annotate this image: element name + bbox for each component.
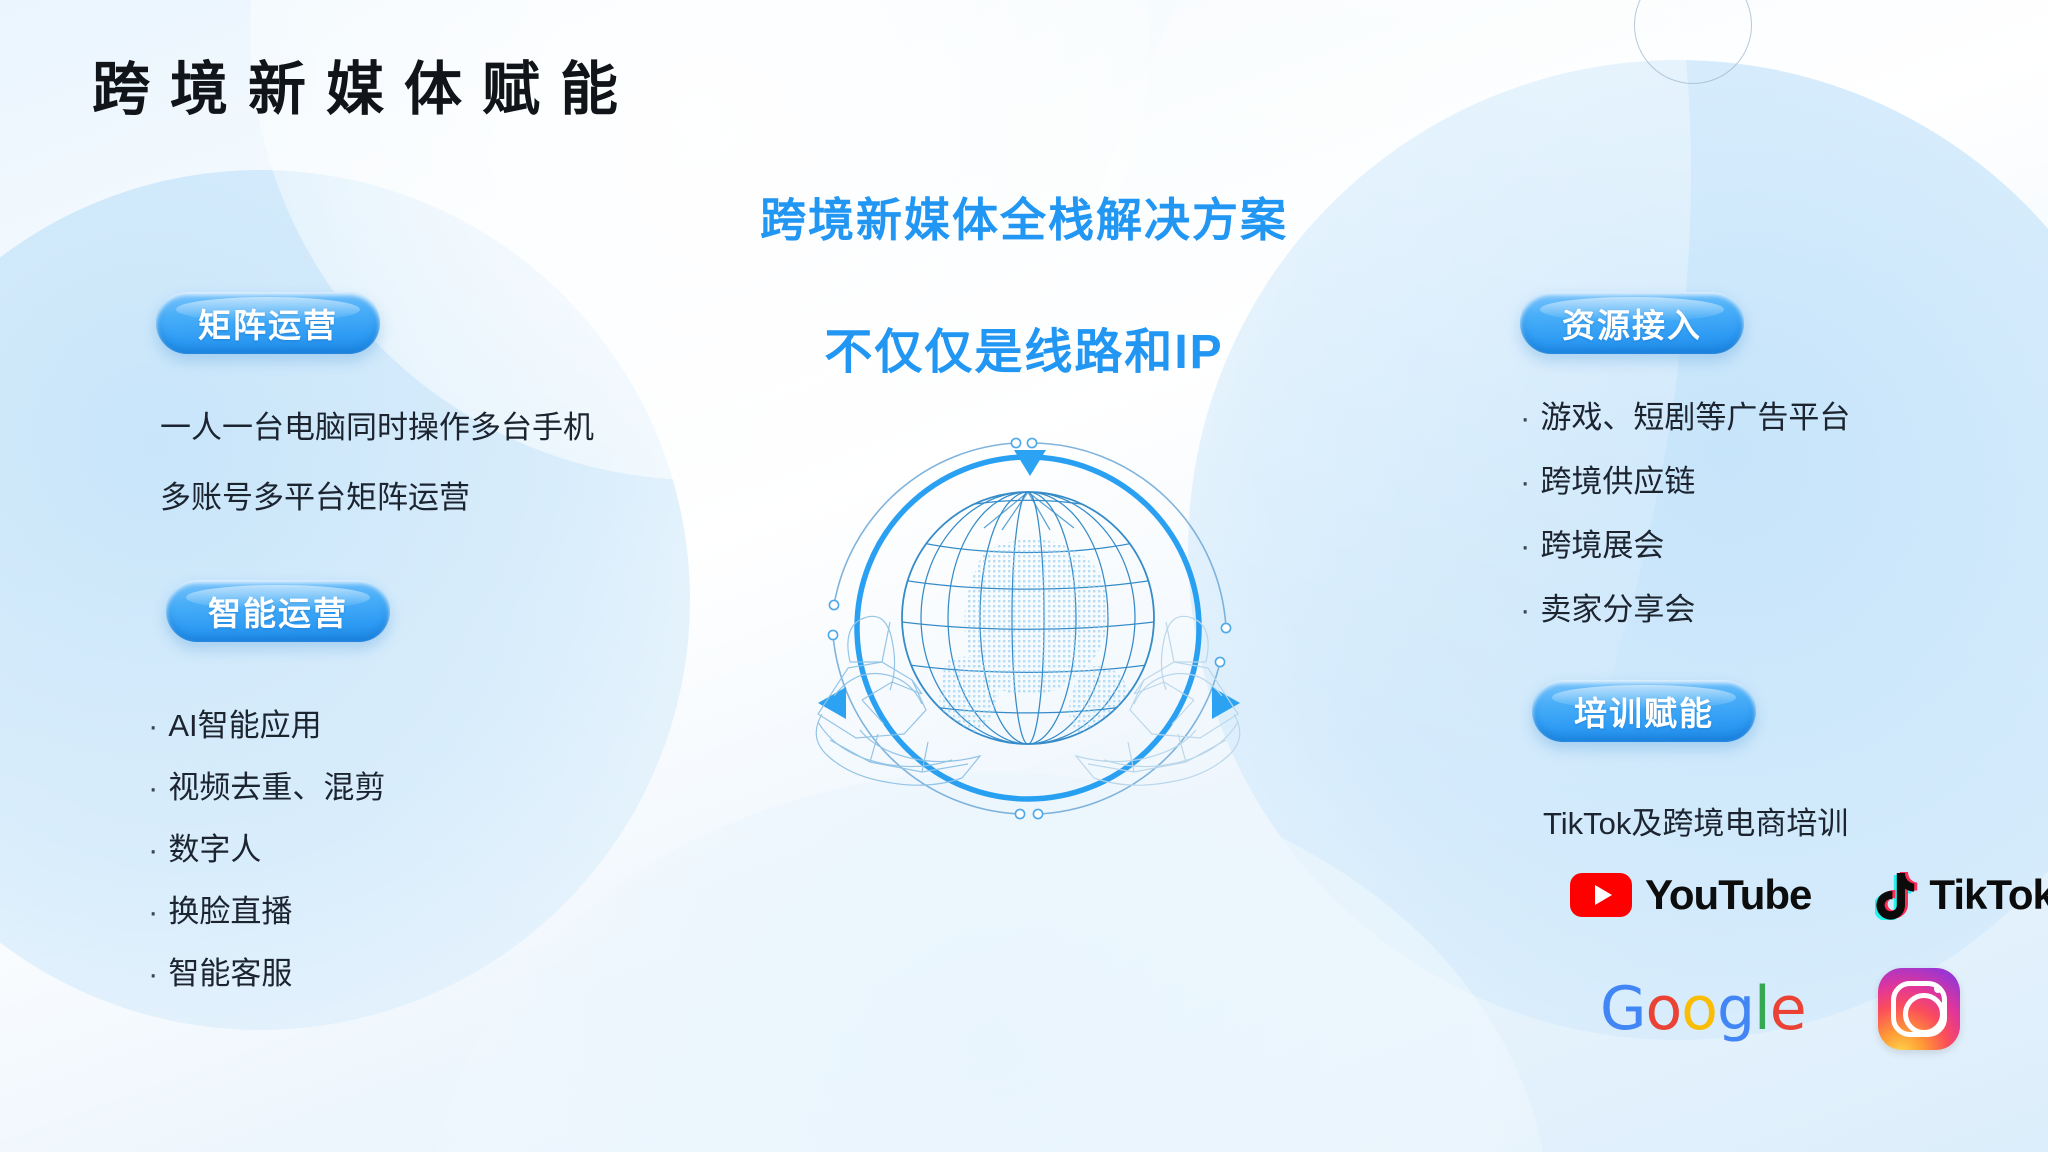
list-item: ·数字人 [148,824,261,869]
pill-label: 资源接入 [1562,299,1702,347]
pill-label: 培训赋能 [1574,687,1714,735]
google-letter-G: G [1600,974,1646,1044]
list-item: ·换脸直播 [148,886,292,931]
page-title: 跨境新媒体赋能 [92,42,638,126]
bullet-dot-icon: · [148,894,158,929]
logo-row-secondary: Google [1600,968,1960,1050]
bullet-dot-icon: · [1520,464,1530,499]
bullet-dot-icon: · [148,708,158,743]
pill-matrix-operations[interactable]: 矩阵运营 [156,292,380,354]
list-item: ·卖家分享会 [1520,584,1695,629]
list-item: ·游戏、短剧等广告平台 [1520,392,1850,437]
list-item-label: 智能客服 [168,956,292,991]
instagram-logo[interactable] [1878,968,1960,1050]
google-letter-e: e [1770,974,1806,1044]
center-heading-primary: 跨境新媒体全栈解决方案 [0,184,2048,250]
instagram-lens-icon [1903,993,1945,1035]
left-line-2: 多账号多平台矩阵运营 [160,472,470,517]
tiktok-logo[interactable]: TikTok [1875,870,2048,920]
list-item-label: 卖家分享会 [1540,592,1695,627]
slide-canvas: 跨境新媒体赋能 跨境新媒体全栈解决方案 不仅仅是线路和IP 矩阵运营 一人一台电… [0,0,2048,1152]
bullet-dot-icon: · [148,956,158,991]
google-letter-o2: o [1681,974,1717,1044]
bullet-dot-icon: · [1520,592,1530,627]
list-item-label: 视频去重、混剪 [168,770,385,805]
pill-label: 智能运营 [208,587,348,635]
bullet-dot-icon: · [1520,528,1530,563]
google-logo[interactable]: Google [1600,974,1806,1044]
left-line-1: 一人一台电脑同时操作多台手机 [160,402,594,447]
tiktok-note-icon [1875,870,1919,920]
tiktok-label: TikTok [1929,871,2048,919]
list-item-label: 跨境供应链 [1540,464,1695,499]
google-letter-l: l [1754,974,1770,1044]
list-item: ·智能客服 [148,948,292,993]
list-item: ·跨境展会 [1520,520,1664,565]
list-item-label: 跨境展会 [1540,528,1664,563]
bullet-dot-icon: · [1520,400,1530,435]
list-item-label: 游戏、短剧等广告平台 [1540,400,1850,435]
training-description: TikTok及跨境电商培训 [1543,798,1848,843]
google-letter-o1: o [1646,974,1682,1044]
pill-label: 矩阵运营 [198,299,338,347]
list-item: ·跨境供应链 [1520,456,1695,501]
instagram-dot-icon [1934,985,1942,993]
list-item-label: 换脸直播 [168,894,292,929]
youtube-logo[interactable]: YouTube [1570,871,1811,919]
logo-row-primary: YouTube TikTok [1570,870,2048,920]
list-item: ·AI智能应用 [148,700,322,745]
list-item: ·视频去重、混剪 [148,762,385,807]
youtube-label: YouTube [1645,871,1811,919]
decorative-circle-icon [1634,0,1752,84]
bullet-dot-icon: · [148,832,158,867]
youtube-play-icon [1570,873,1632,917]
google-letter-g: g [1717,974,1754,1044]
list-item-label: 数字人 [168,832,261,867]
pill-smart-operations[interactable]: 智能运营 [166,580,390,642]
bullet-dot-icon: · [148,770,158,805]
globe-in-hands-illustration [788,400,1268,860]
list-item-label: AI智能应用 [168,708,321,743]
pill-training-empowerment[interactable]: 培训赋能 [1532,680,1756,742]
pill-resource-access[interactable]: 资源接入 [1520,292,1744,354]
